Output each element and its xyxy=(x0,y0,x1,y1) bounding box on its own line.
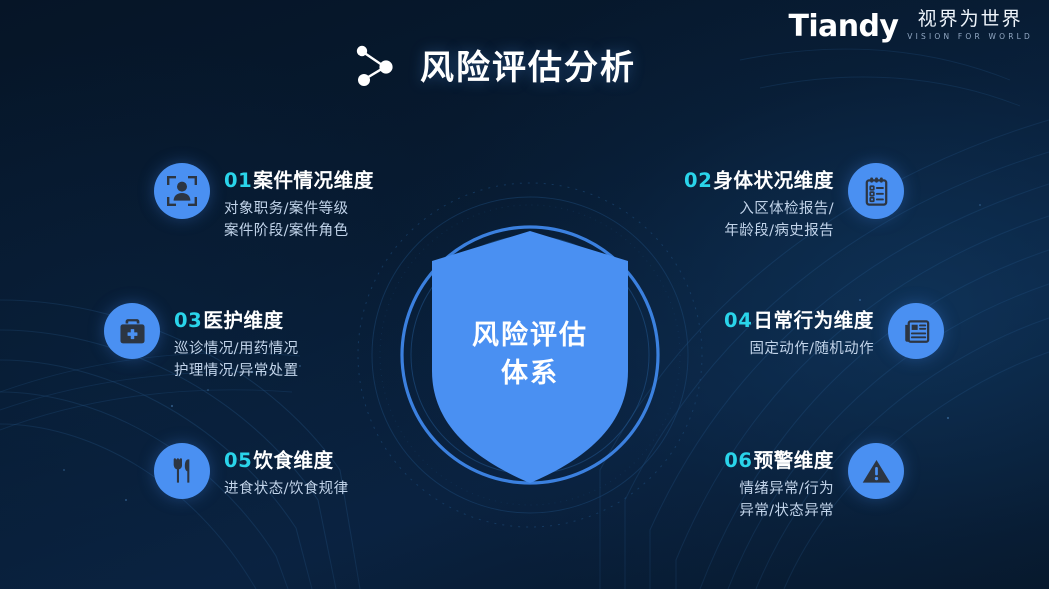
dimension-item-01-sub-line2: 案件阶段/案件角色 xyxy=(224,221,374,242)
dimension-item-06-text: 06预警维度 情绪异常/行为 异常/状态异常 xyxy=(724,443,834,522)
dimension-item-04-title: 日常行为维度 xyxy=(753,309,874,332)
brand-tagline: VISION FOR WORLD xyxy=(907,32,1033,41)
dimension-item-03-text: 03医护维度 巡诊情况/用药情况 护理情况/异常处置 xyxy=(174,303,299,382)
dimension-item-05-text: 05饮食维度 进食状态/饮食规律 xyxy=(224,443,349,500)
dimension-item-01-sub-line1: 对象职务/案件等级 xyxy=(224,199,374,220)
dimension-item-02-sub-line2: 年龄段/病史报告 xyxy=(684,221,834,242)
dimension-item-04-text: 04日常行为维度 固定动作/随机动作 xyxy=(724,303,874,360)
dimension-item-04-number: 04 xyxy=(724,309,752,332)
dimension-item-02-heading: 02身体状况维度 xyxy=(684,169,834,192)
dimension-item-05-title: 饮食维度 xyxy=(253,449,333,472)
brand-logo: Tiandy 视界为世界 VISION FOR WORLD xyxy=(789,10,1034,42)
dimension-item-06-sub-line1: 情绪异常/行为 xyxy=(724,479,834,500)
dimension-item-02-title: 身体状况维度 xyxy=(713,169,834,192)
slide-canvas: Tiandy 视界为世界 VISION FOR WORLD 风险评估分析 xyxy=(0,0,1049,589)
dimension-item-03-number: 03 xyxy=(174,309,202,332)
dimension-item-03-title: 医护维度 xyxy=(203,309,283,332)
dimension-item-03-sub-line2: 护理情况/异常处置 xyxy=(174,361,299,382)
dimension-item-01-heading: 01案件情况维度 xyxy=(224,169,374,192)
dimension-item-04[interactable]: 04日常行为维度 固定动作/随机动作 xyxy=(724,303,944,360)
dimension-item-04-sub-line1: 固定动作/随机动作 xyxy=(724,339,874,360)
dimension-item-06-heading: 06预警维度 xyxy=(724,449,834,472)
node-graph-icon xyxy=(352,42,398,88)
dimension-item-01-title: 案件情况维度 xyxy=(253,169,374,192)
fork-knife-icon xyxy=(154,443,210,499)
dimension-item-02-text: 02身体状况维度 入区体检报告/ 年龄段/病史报告 xyxy=(684,163,834,242)
dimension-item-03-sub-line1: 巡诊情况/用药情况 xyxy=(174,339,299,360)
dimension-item-01-number: 01 xyxy=(224,169,252,192)
dimension-item-01-text: 01案件情况维度 对象职务/案件等级 案件阶段/案件角色 xyxy=(224,163,374,242)
dimension-item-01[interactable]: 01案件情况维度 对象职务/案件等级 案件阶段/案件角色 xyxy=(154,163,374,242)
dimension-item-02[interactable]: 02身体状况维度 入区体检报告/ 年龄段/病史报告 xyxy=(684,163,904,242)
dimension-item-06-number: 06 xyxy=(724,449,752,472)
shield-icon xyxy=(350,175,710,535)
dimension-item-02-sub-line1: 入区体检报告/ xyxy=(684,199,834,220)
dimension-item-03[interactable]: 03医护维度 巡诊情况/用药情况 护理情况/异常处置 xyxy=(104,303,299,382)
dimension-item-06-title: 预警维度 xyxy=(754,449,834,472)
newspaper-icon xyxy=(888,303,944,359)
dimension-item-05-heading: 05饮食维度 xyxy=(224,449,349,472)
brand-wordmark: Tiandy xyxy=(789,12,899,42)
dimension-item-03-heading: 03医护维度 xyxy=(174,309,299,332)
brand-chinese-block: 视界为世界 VISION FOR WORLD xyxy=(907,10,1033,42)
dimension-item-02-number: 02 xyxy=(684,169,712,192)
dimension-item-06[interactable]: 06预警维度 情绪异常/行为 异常/状态异常 xyxy=(724,443,904,522)
medical-kit-icon xyxy=(104,303,160,359)
face-detection-icon xyxy=(154,163,210,219)
dimension-item-06-sub-line2: 异常/状态异常 xyxy=(724,501,834,522)
dimension-item-04-heading: 04日常行为维度 xyxy=(724,309,874,332)
dimension-item-05-number: 05 xyxy=(224,449,252,472)
page-title-row: 风险评估分析 xyxy=(352,40,636,89)
brand-chinese: 视界为世界 xyxy=(918,10,1023,30)
warning-triangle-icon xyxy=(848,443,904,499)
dimension-item-05-sub-line1: 进食状态/饮食规律 xyxy=(224,479,349,500)
dimension-item-05[interactable]: 05饮食维度 进食状态/饮食规律 xyxy=(154,443,349,500)
clipboard-checklist-icon xyxy=(848,163,904,219)
page-title: 风险评估分析 xyxy=(420,40,636,89)
center-graphic: 风险评估 体系 xyxy=(350,175,710,535)
